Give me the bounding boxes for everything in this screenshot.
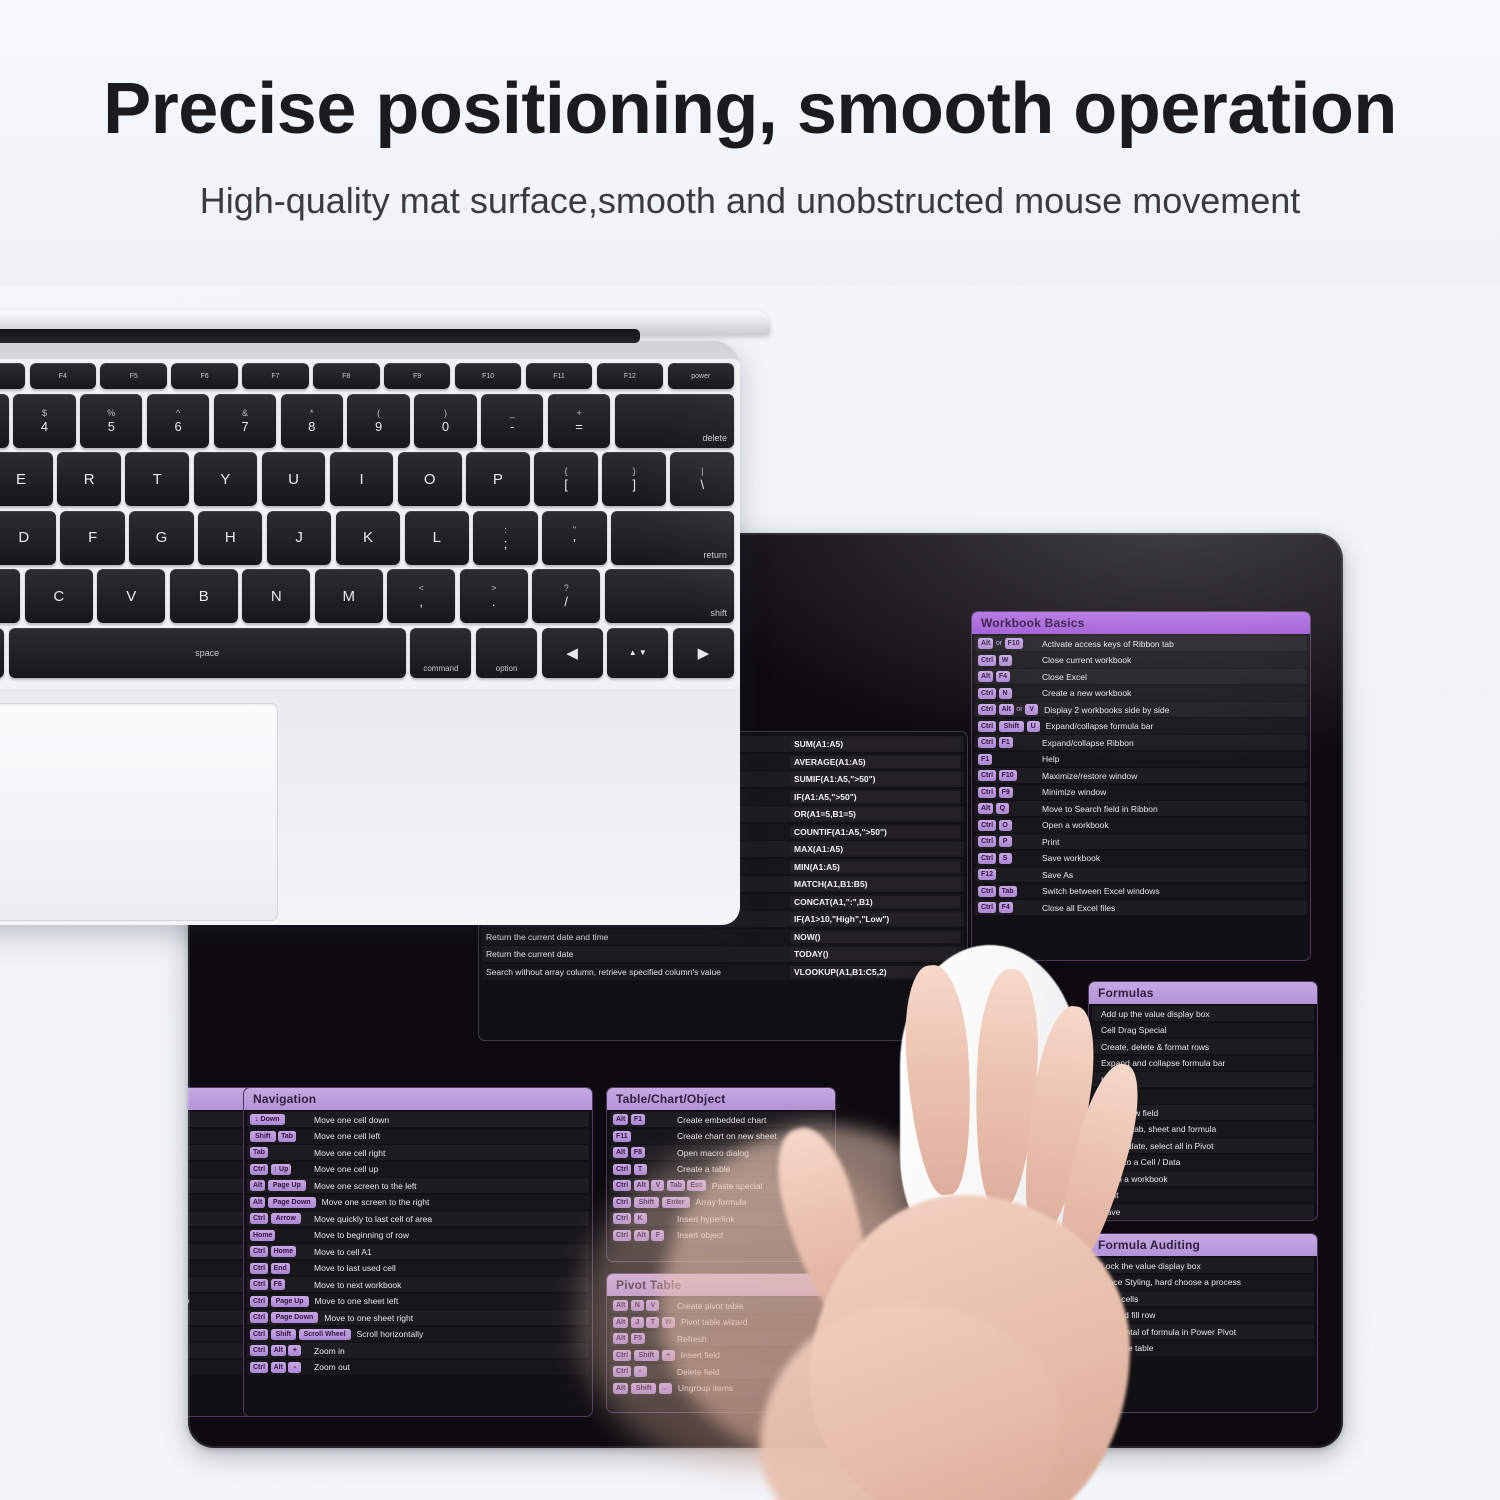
shortcut-description: Move to one sheet right: [318, 1313, 586, 1323]
page-subtitle: High-quality mat surface,smooth and unob…: [0, 180, 1500, 222]
shortcut-row: Add up the value display box: [1092, 1006, 1314, 1021]
shortcut-row: AltPage UpMove one screen to the left: [247, 1178, 589, 1193]
key-cap: F11: [613, 1131, 631, 1142]
shortcut-row: ShiftTabMove one cell left: [247, 1129, 589, 1144]
key-cap: Tab: [250, 1147, 268, 1158]
keyboard-key[interactable]: F11: [526, 363, 592, 389]
shortcut-row: CtrlF1Expand/collapse Ribbon: [975, 735, 1307, 750]
shortcut-description: Open a workbook: [1036, 820, 1304, 830]
shortcut-description: Move to Search field in Ribbon: [1036, 804, 1304, 814]
key-cap: T: [646, 1317, 659, 1328]
shortcut-keys: CtrlP: [978, 836, 1036, 847]
shortcut-description: Move to beginning of row: [308, 1230, 586, 1240]
keyboard-key[interactable]: ▶: [673, 628, 734, 678]
shortcut-keys: Home: [250, 1230, 308, 1241]
formula-syntax: SUMIF(A1:A5,">50"): [790, 773, 960, 785]
shortcut-description: Scroll horizontally: [351, 1329, 586, 1339]
key-upper: ?: [564, 583, 569, 593]
key-upper: ): [444, 408, 447, 418]
formula-row: Search without array column, retrieve sp…: [482, 964, 964, 980]
panel-navigation[interactable]: Navigation ↓ DownMove one cell downShift…: [243, 1087, 593, 1417]
shortcut-description: Lock cells: [1095, 1294, 1311, 1304]
shortcut-description: Maximize/restore window: [1036, 771, 1304, 781]
keyboard-key[interactable]: J: [267, 511, 331, 565]
shortcut-keys: AltPage Up: [250, 1180, 308, 1191]
shortcut-keys: Ctrl↑ Up: [250, 1164, 308, 1175]
key-cap: End: [271, 1263, 290, 1274]
keyboard-key[interactable]: F8: [313, 363, 379, 389]
shortcut-row: CtrlAltorVDisplay 2 workbooks side by si…: [975, 702, 1307, 717]
shortcut-description: Activate access keys of Ribbon tab: [1036, 639, 1304, 649]
key-cap: Ctrl: [978, 704, 996, 715]
shortcut-row: Insert a tab, sheet and formula: [1092, 1122, 1314, 1137]
key-cap: Alt: [978, 638, 993, 649]
key-cap: Tab: [278, 1131, 296, 1142]
key-cap: Alt: [271, 1362, 286, 1373]
shortcut-row: CtrlTCreate a table: [610, 1162, 832, 1177]
key-cap: V: [651, 1180, 664, 1191]
formula-description: Search without array column, retrieve sp…: [486, 967, 784, 977]
shortcut-description: Open a workbook: [1095, 1174, 1311, 1184]
shortcut-keys: CtrlO: [978, 820, 1036, 831]
shortcut-row: Cell Drag Special: [1092, 1023, 1314, 1038]
shortcut-description: Trace Styling, hard choose a process: [1095, 1277, 1311, 1287]
keyboard-key[interactable]: U: [262, 452, 326, 506]
shortcut-row: AltPage DownMove one screen to the right: [247, 1195, 589, 1210]
shortcut-keys: AltJTW: [613, 1317, 675, 1328]
panel-table-chart-object[interactable]: Table/Chart/Object AltF1Create embedded …: [606, 1087, 836, 1262]
key-cap: Tab: [999, 886, 1017, 897]
key-cap: S: [999, 853, 1012, 864]
formula-syntax: CONCAT(A1,":",B1): [790, 896, 960, 908]
panel-title-table-chart-object: Table/Chart/Object: [607, 1088, 835, 1110]
shortcut-row: CtrlKInsert hyperlink: [610, 1211, 832, 1226]
shortcut-row: CtrlPage UpMove to one sheet left: [247, 1294, 589, 1309]
key-cap: P: [999, 836, 1012, 847]
keyboard-key[interactable]: G: [129, 511, 193, 565]
shortcut-keys: CtrlW: [978, 655, 1036, 666]
shortcut-keys: AltQ: [978, 803, 1036, 814]
panel-pivot-table[interactable]: Pivot Table AltNVCreate pivot tableAltJT…: [606, 1273, 836, 1413]
shortcut-keys: AltF8: [613, 1147, 671, 1158]
keyboard-key[interactable]: K: [336, 511, 400, 565]
key-lower: 8: [308, 419, 315, 434]
keyboard-key[interactable]: power: [668, 363, 734, 389]
key-upper: >: [491, 583, 496, 593]
keyboard-key[interactable]: P: [466, 452, 530, 506]
keyboard-key[interactable]: X: [0, 569, 20, 623]
shortcut-description: Pivot table wizard: [675, 1317, 829, 1327]
shortcut-description: Zoom out: [308, 1362, 586, 1372]
key-cap: Ctrl: [978, 886, 996, 897]
key-cap: Shift: [634, 1350, 660, 1361]
formula-syntax: OR(A1=5,B1=5): [790, 808, 960, 820]
keyboard-row: escF1F2F3F4F5F6F7F8F9F10F11F12power: [0, 363, 734, 389]
shortcut-description: Move one cell left: [308, 1131, 586, 1141]
shortcut-description: Close current workbook: [1036, 655, 1304, 665]
shortcut-keys: CtrlTab: [978, 886, 1036, 897]
panel-title-pivot-table: Pivot Table: [607, 1274, 835, 1296]
key-cap: F4: [996, 671, 1010, 682]
key-cap: Ctrl: [978, 721, 996, 732]
keyboard-key[interactable]: F6: [171, 363, 237, 389]
keyboard-key[interactable]: F12: [597, 363, 663, 389]
key-cap: Page Up: [271, 1296, 309, 1307]
key-cap: Alt: [250, 1197, 265, 1208]
shortcut-description: Minimize window: [1036, 787, 1304, 797]
keyboard-key[interactable]: H: [198, 511, 262, 565]
keyboard-key[interactable]: N: [242, 569, 310, 623]
panel-formulas-right[interactable]: Formulas Add up the value display boxCel…: [1088, 981, 1318, 1221]
panel-title-formulas-right: Formulas: [1089, 982, 1317, 1004]
shortcut-description: Ungroup items: [672, 1383, 829, 1393]
shortcut-description: Recalculate, select all in Pivot: [1095, 1141, 1311, 1151]
keyboard-key[interactable]: ◀: [542, 628, 603, 678]
keyboard-key[interactable]: M: [315, 569, 383, 623]
key-cap: Arrow: [271, 1213, 301, 1224]
key-cap: F10: [999, 770, 1017, 781]
key-cap: Ctrl: [978, 688, 996, 699]
keyboard-key[interactable]: F9: [384, 363, 450, 389]
shortcut-row: HomeMove to beginning of row: [247, 1228, 589, 1243]
keyboard-key[interactable]: _-: [481, 394, 543, 448]
formula-syntax: AVERAGE(A1:A5): [790, 756, 960, 768]
key-cap: U: [1027, 721, 1040, 732]
shortcut-row: AltF5Refresh: [610, 1331, 832, 1346]
shortcut-keys: AltF5: [613, 1333, 671, 1344]
shortcut-row: Insert: [1092, 1089, 1314, 1104]
shortcut-keys: CtrlF10: [978, 770, 1036, 781]
keyboard-key[interactable]: R: [57, 452, 121, 506]
key-cap: Ctrl: [250, 1246, 268, 1257]
keyboard-key[interactable]: L: [405, 511, 469, 565]
key-cap: Alt: [634, 1230, 649, 1241]
key-upper: |: [701, 466, 703, 476]
shortcut-keys: AltNV: [613, 1300, 671, 1311]
shortcut-description: Move to one sheet left: [309, 1296, 586, 1306]
key-lower: [: [564, 477, 568, 492]
shortcut-row: CtrlF6Move to next workbook: [247, 1277, 589, 1292]
key-cap: F10: [1005, 638, 1023, 649]
shortcut-keys: AltorF10: [978, 638, 1036, 649]
keyboard-key[interactable]: $4: [13, 394, 75, 448]
shortcut-keys: CtrlF4: [978, 902, 1036, 913]
shortcut-keys: CtrlShiftEnter: [613, 1197, 690, 1208]
key-cap: Alt: [999, 704, 1014, 715]
key-lower: ]: [632, 477, 636, 492]
keyboard-key[interactable]: O: [398, 452, 462, 506]
key-cap: F6: [271, 1279, 285, 1290]
keyboard-key[interactable]: V: [97, 569, 165, 623]
key-cap: F1: [999, 737, 1013, 748]
workbook-basics-rows: AltorF10Activate access keys of Ribbon t…: [972, 634, 1310, 920]
shortcut-row: Trace Styling, hard choose a process: [1092, 1275, 1314, 1290]
key-cap: -: [634, 1366, 647, 1377]
shortcut-row: AltJTWPivot table wizard: [610, 1315, 832, 1330]
keyboard-key[interactable]: +=: [548, 394, 610, 448]
shortcut-row: AltF8Open macro dialog: [610, 1145, 832, 1160]
keyboard-key[interactable]: )0: [414, 394, 476, 448]
shortcut-row: CtrlArrowMove quickly to last cell of ar…: [247, 1211, 589, 1226]
shortcut-keys: AltPage Down: [250, 1197, 316, 1208]
key-upper: {: [564, 466, 567, 476]
shortcut-description: Array formula: [690, 1197, 829, 1207]
formula-syntax: MATCH(A1,B1:B5): [790, 878, 960, 890]
shortcut-row: Help: [1092, 1072, 1314, 1087]
keyboard-key[interactable]: >.: [460, 569, 528, 623]
key-upper: _: [510, 408, 515, 418]
formula-syntax: MIN(A1:A5): [790, 861, 960, 873]
key-cap: V: [1025, 704, 1038, 715]
shortcut-row: CtrlAlt-Zoom out: [247, 1360, 589, 1375]
keyboard-key[interactable]: delete: [615, 394, 734, 448]
keyboard-key[interactable]: I: [330, 452, 394, 506]
key-cap: Alt: [613, 1333, 628, 1344]
key-cap: Shift: [631, 1383, 657, 1394]
navigation-rows: ↓ DownMove one cell downShiftTabMove one…: [244, 1110, 592, 1379]
shortcut-keys: CtrlAltVTabEsc: [613, 1180, 706, 1191]
shortcut-keys: CtrlEnd: [250, 1263, 308, 1274]
keyboard-key[interactable]: &7: [214, 394, 276, 448]
shortcut-row: CtrlShiftUExpand/collapse formula bar: [975, 719, 1307, 734]
shortcut-row: CtrlF10Maximize/restore window: [975, 768, 1307, 783]
shortcut-row: CtrlSSave workbook: [975, 851, 1307, 866]
formula-row: Return the current date and timeNOW(): [482, 929, 964, 945]
shortcut-row: CtrlShift+Insert field: [610, 1348, 832, 1363]
shortcut-row: AltF4Close Excel: [975, 669, 1307, 684]
shortcut-description: Expand/collapse Ribbon: [1036, 738, 1304, 748]
keyboard-key[interactable]: C: [25, 569, 93, 623]
shortcut-description: Move one cell down: [308, 1115, 586, 1125]
shortcut-row: CtrlNCreate a new workbook: [975, 686, 1307, 701]
keyboard-key[interactable]: B: [170, 569, 238, 623]
keyboard-key[interactable]: command: [0, 628, 4, 678]
shortcut-description: Move one cell right: [308, 1148, 586, 1158]
key-cap: O: [999, 820, 1012, 831]
shortcut-description: Insert field: [675, 1350, 829, 1360]
key-cap: Ctrl: [978, 787, 996, 798]
trackpad[interactable]: [0, 703, 278, 921]
shortcut-description: Print: [1095, 1190, 1311, 1200]
key-lower: 7: [241, 419, 248, 434]
shortcut-row: F1Help: [975, 752, 1307, 767]
shortcut-keys: CtrlShiftScroll Wheel: [250, 1329, 351, 1340]
shortcut-description: Close Excel: [1036, 672, 1304, 682]
key-cap: Enter: [662, 1197, 690, 1208]
shortcut-row: Create, delete & format rows: [1092, 1039, 1314, 1054]
shortcut-keys: CtrlK: [613, 1213, 671, 1224]
key-lower: 6: [175, 419, 182, 434]
shortcut-description: Create a new workbook: [1036, 688, 1304, 698]
key-upper: ^: [176, 408, 180, 418]
shortcut-row: CtrlHomeMove to cell A1: [247, 1244, 589, 1259]
shortcut-description: Delete field: [671, 1367, 829, 1377]
shortcut-description: Lock the value display box: [1095, 1261, 1311, 1271]
formula-row: Return the current dateTODAY(): [482, 946, 964, 962]
keyboard-key[interactable]: space: [9, 628, 406, 678]
keyboard-key[interactable]: }]: [602, 452, 666, 506]
key-cap: K: [634, 1213, 647, 1224]
key-cap: Ctrl: [613, 1230, 631, 1241]
shortcut-description: Zoom in: [308, 1346, 586, 1356]
macbook-laptop: escF1F2F3F4F5F6F7F8F9F10F11F12power~`!1@…: [0, 285, 770, 925]
key-cap: Ctrl: [250, 1263, 268, 1274]
shortcut-description: Refresh: [671, 1334, 829, 1344]
keyboard-key[interactable]: option: [476, 628, 537, 678]
shortcut-keys: CtrlArrow: [250, 1213, 308, 1224]
shortcut-row: CtrlPPrint: [975, 834, 1307, 849]
keyboard-key[interactable]: T: [125, 452, 189, 506]
key-upper: (: [377, 408, 380, 418]
key-cap: F8: [631, 1147, 645, 1158]
shortcut-description: Display 2 workbooks side by side: [1038, 705, 1304, 715]
key-cap: Alt: [250, 1180, 265, 1191]
shortcut-description: Close all Excel files: [1036, 903, 1304, 913]
laptop-keyboard[interactable]: escF1F2F3F4F5F6F7F8F9F10F11F12power~`!1@…: [0, 359, 740, 689]
keyboard-key[interactable]: "': [542, 511, 606, 565]
key-lower: 4: [41, 419, 48, 434]
keyboard-row: ~`!1@2#3$4%5^6&7*8(9)0_-+=delete: [0, 394, 734, 448]
keyboard-key[interactable]: %5: [80, 394, 142, 448]
key-cap: T: [634, 1164, 647, 1175]
right-panel2-rows: Lock the value display boxTrace Styling,…: [1089, 1256, 1317, 1360]
key-cap: Home: [271, 1246, 296, 1257]
shortcut-row: AltQMove to Search field in Ribbon: [975, 801, 1307, 816]
formula-description: Return the current date and time: [486, 932, 784, 942]
shortcut-keys: CtrlShift+: [613, 1350, 675, 1361]
shortcut-description: Move to a Cell / Data: [1095, 1157, 1311, 1167]
shortcut-keys: CtrlF1: [978, 737, 1036, 748]
shortcut-keys: CtrlN: [978, 688, 1036, 699]
shortcut-row: Save: [1092, 1204, 1314, 1219]
keyboard-key[interactable]: ^6: [147, 394, 209, 448]
right-panel-rows: Add up the value display boxCell Drag Sp…: [1089, 1004, 1317, 1221]
key-lower: ,: [419, 594, 423, 609]
shortcut-description: Create, delete & format rows: [1095, 1042, 1311, 1052]
shortcut-keys: ShiftTab: [250, 1131, 308, 1142]
key-cap: Shift: [634, 1197, 660, 1208]
keyboard-key[interactable]: (9: [347, 394, 409, 448]
keyboard-key[interactable]: Y: [194, 452, 258, 506]
shortcut-description: Insert a tab, sheet and formula: [1095, 1124, 1311, 1134]
shortcut-description: Move one cell up: [308, 1164, 586, 1174]
keyboard-row: fncontroloptioncommandspacecommandoption…: [0, 628, 734, 678]
shortcut-row: CtrlShiftScroll WheelScroll horizontally: [247, 1327, 589, 1342]
shortcut-row: AltF1Create embedded chart: [610, 1112, 832, 1127]
shortcut-keys: CtrlHome: [250, 1246, 308, 1257]
key-upper: ": [573, 525, 576, 535]
shortcut-description: Move one screen to the left: [308, 1181, 586, 1191]
key-cap: Alt: [271, 1345, 286, 1356]
shortcut-row: CtrlOOpen a workbook: [975, 818, 1307, 833]
shortcut-row: Print: [1092, 1188, 1314, 1203]
key-cap: Ctrl: [613, 1164, 631, 1175]
key-cap: Ctrl: [250, 1213, 268, 1224]
keyboard-key[interactable]: F4: [30, 363, 96, 389]
key-upper: <: [419, 583, 424, 593]
keyboard-key[interactable]: command: [410, 628, 471, 678]
key-lower: \: [700, 477, 704, 492]
shortcut-description: Insert: [1095, 1091, 1311, 1101]
key-cap: Alt: [613, 1300, 628, 1311]
shortcut-description: Print: [1036, 837, 1304, 847]
panel-title-formula-auditing: Formula Auditing: [1089, 1234, 1317, 1256]
keyboard-key[interactable]: |\: [670, 452, 734, 506]
key-lower: .: [492, 594, 496, 609]
keyboard-key[interactable]: E: [0, 452, 53, 506]
key-cap: Ctrl: [250, 1362, 268, 1373]
key-upper: &: [242, 408, 248, 418]
panel-formula-auditing[interactable]: Formula Auditing Lock the value display …: [1088, 1233, 1318, 1413]
shortcut-keys: CtrlPage Up: [250, 1296, 309, 1307]
shortcut-description: Create chart on new sheet: [671, 1131, 829, 1141]
key-cap: +: [662, 1350, 675, 1361]
key-cap: Alt: [613, 1317, 628, 1328]
key-cap: W: [662, 1317, 675, 1328]
panel-workbook-basics[interactable]: Workbook Basics AltorF10Activate access …: [971, 611, 1311, 961]
shortcut-keys: F12: [978, 869, 1036, 880]
shortcut-row: CtrlWClose current workbook: [975, 653, 1307, 668]
keyboard-key[interactable]: F5: [100, 363, 166, 389]
keyboard-key[interactable]: :;: [473, 511, 537, 565]
keyboard-key[interactable]: ?/: [532, 569, 600, 623]
shortcut-description: Move to next workbook: [308, 1280, 586, 1290]
keyboard-key[interactable]: #3: [0, 394, 9, 448]
shortcut-description: Create a table: [671, 1164, 829, 1174]
shortcut-description: Remove table: [1095, 1343, 1311, 1353]
keyboard-key[interactable]: {[: [534, 452, 598, 506]
keyboard-key[interactable]: *8: [281, 394, 343, 448]
keyboard-key[interactable]: F3: [0, 363, 25, 389]
keyboard-key[interactable]: return: [611, 511, 734, 565]
shortcut-row: Expand and collapse formula bar: [1092, 1056, 1314, 1071]
keyboard-key[interactable]: F: [60, 511, 124, 565]
key-cap: Ctrl: [613, 1350, 631, 1361]
shortcut-row: CtrlF4Close all Excel files: [975, 900, 1307, 915]
keyboard-key[interactable]: <,: [387, 569, 455, 623]
shortcut-keys: CtrlF6: [250, 1279, 308, 1290]
formula-description: Return the current date: [486, 949, 784, 959]
key-cap: V: [646, 1300, 659, 1311]
key-cap: F: [651, 1230, 664, 1241]
shortcut-row: Go and fill row: [1092, 1308, 1314, 1323]
shortcut-row: Recalculate, select all in Pivot: [1092, 1138, 1314, 1153]
key-cap: Shift: [250, 1131, 276, 1142]
shortcut-description: Open macro dialog: [671, 1148, 829, 1158]
shortcut-description: Move to cell A1: [308, 1247, 586, 1257]
key-cap: Ctrl: [250, 1296, 268, 1307]
key-cap: Esc: [687, 1180, 705, 1191]
shortcut-row: F12Save As: [975, 867, 1307, 882]
shortcut-description: Insert hyperlink: [671, 1214, 829, 1224]
formula-syntax: MAX(A1:A5): [790, 843, 960, 855]
key-lower: 0: [442, 419, 449, 434]
shortcut-description: Paste special: [706, 1181, 829, 1191]
keyboard-key[interactable]: F10: [455, 363, 521, 389]
shortcut-description: Insert new field: [1095, 1108, 1311, 1118]
key-cap: Ctrl: [978, 820, 996, 831]
key-cap: Alt: [634, 1180, 649, 1191]
keyboard-key[interactable]: D: [0, 511, 56, 565]
keyboard-key[interactable]: ▲ ▼: [607, 628, 668, 678]
shortcut-description: Move quickly to last cell of area: [308, 1214, 586, 1224]
key-cap: Ctrl: [250, 1329, 268, 1340]
keyboard-key[interactable]: F7: [242, 363, 308, 389]
keyboard-key[interactable]: shift: [605, 569, 734, 623]
key-cap: Page Up: [268, 1180, 306, 1191]
shortcut-keys: CtrlAltF: [613, 1230, 671, 1241]
shortcut-keys: ↓ Down: [250, 1114, 308, 1125]
